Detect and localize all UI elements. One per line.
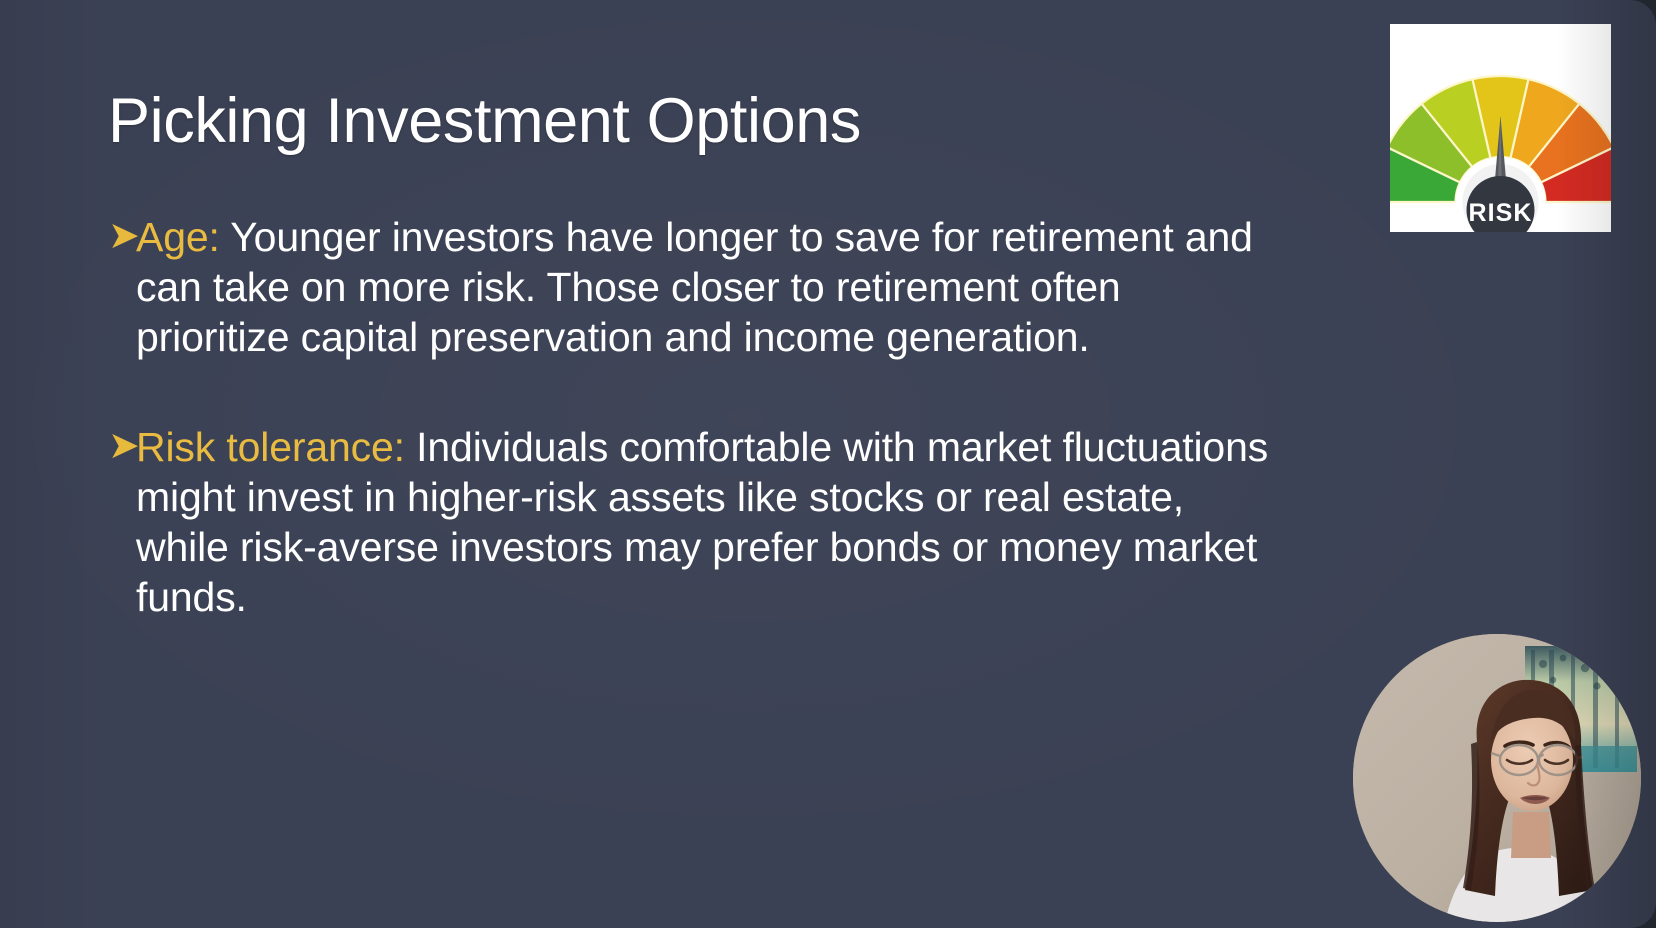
- bullet-risk-text: Risk tolerance: Individuals comfortable …: [108, 422, 1283, 622]
- bullet-age-body: Younger investors have longer to save fo…: [136, 214, 1253, 360]
- risk-gauge-graphic: RISK: [1390, 24, 1611, 232]
- risk-gauge-caption: RISK: [1468, 199, 1532, 227]
- bullet-item-age: ➤ Age: Younger investors have longer to …: [108, 212, 1283, 362]
- bullet-item-risk-tolerance: ➤ Risk tolerance: Individuals comfortabl…: [108, 422, 1283, 622]
- bullet-age-text: Age: Younger investors have longer to sa…: [108, 212, 1283, 362]
- bullet-risk-label: Risk tolerance:: [136, 424, 416, 470]
- slide-canvas: Picking Investment Options ➤ Age: Younge…: [0, 0, 1656, 928]
- slide-body: ➤ Age: Younger investors have longer to …: [108, 212, 1283, 622]
- bullet-age-label: Age:: [136, 214, 230, 260]
- presenter-webcam-bubble[interactable]: [1353, 634, 1641, 922]
- presenter-webcam-graphic: [1353, 634, 1641, 922]
- slide-title: Picking Investment Options: [108, 88, 861, 154]
- risk-gauge-image: RISK: [1390, 24, 1611, 232]
- arrow-bullet-icon: ➤: [108, 212, 140, 261]
- arrow-bullet-icon: ➤: [108, 422, 140, 471]
